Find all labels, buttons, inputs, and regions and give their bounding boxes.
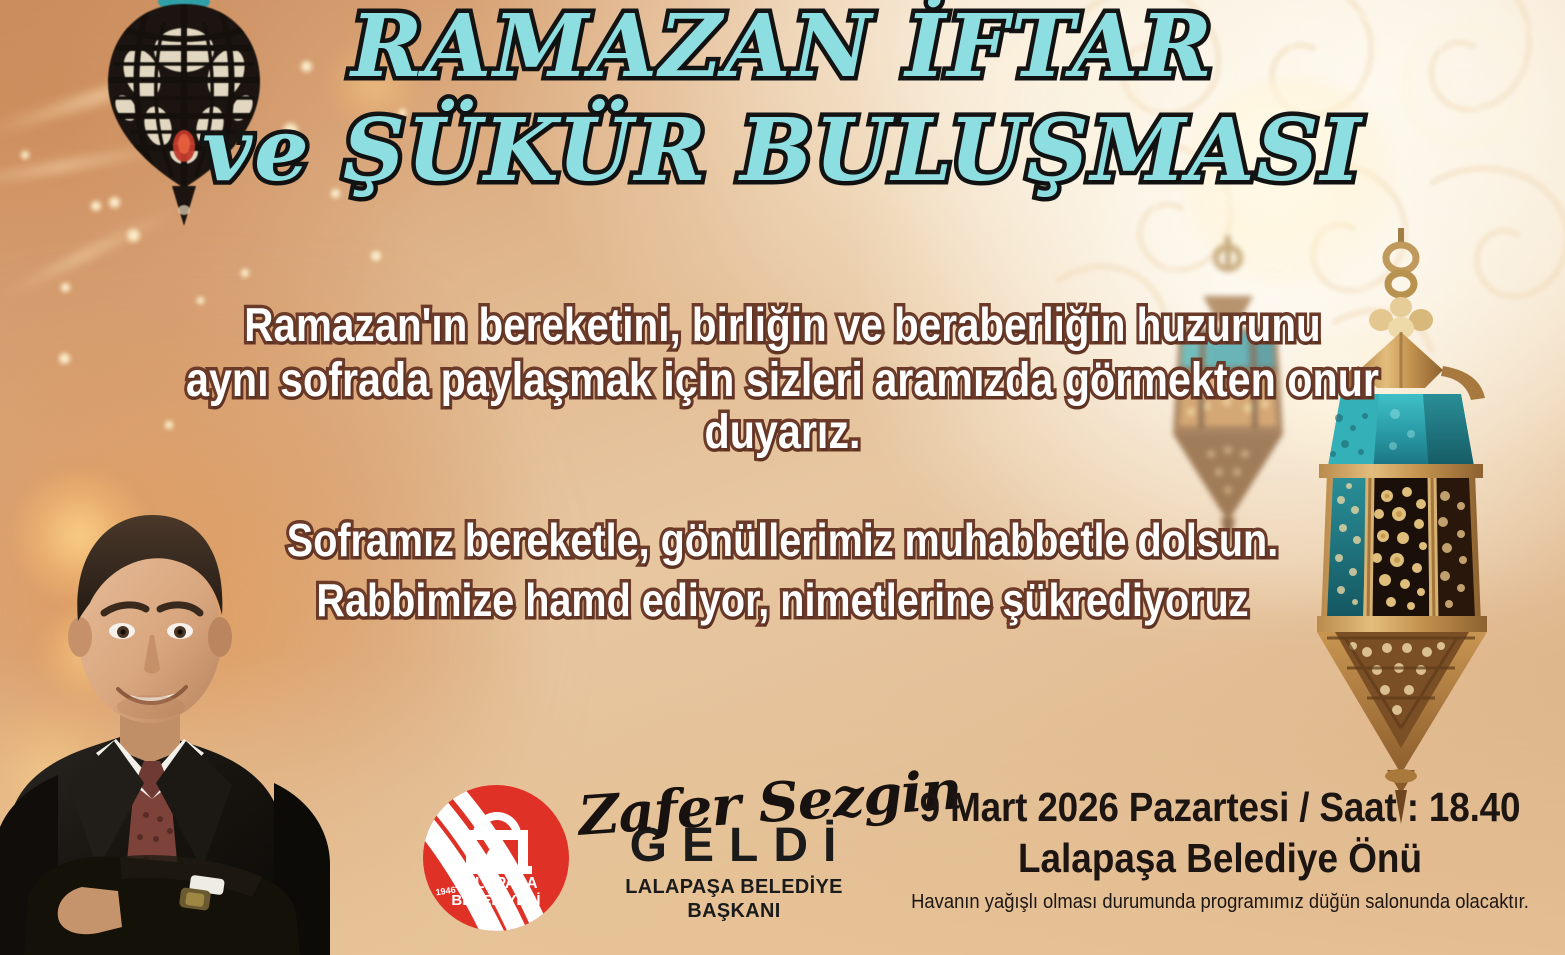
logo-municipality-line2: BELEDİYESİ (451, 892, 540, 909)
poster-headline: RAMAZAN İFTAR ve ŞÜKÜR BULUŞMASI (0, 4, 1565, 194)
headline-prefix: ve (202, 100, 343, 201)
headline-line-1: RAMAZAN İFTAR (0, 4, 1565, 90)
paragraph-2-line-2: Rabbimize hamd ediyor, nimetlerine şükre… (110, 576, 1456, 626)
paragraph-2-line-1: Soframız bereketle, gönüllerimiz muhabbe… (110, 516, 1456, 566)
event-date-time: 9 Mart 2026 Pazartesi / Saat : 18.40 (914, 786, 1526, 829)
paragraph-1-line-1: Ramazan'ın bereketini, birliğin ve berab… (110, 300, 1456, 351)
headline-line-2: ve ŞÜKÜR BULUŞMASI (0, 108, 1565, 194)
paragraph-1: Ramazan'ın bereketini, birliğin ve berab… (0, 300, 1565, 458)
mayor-signature-block: Zafer Sezgin GELDİ LALAPAŞA BELEDİYE BAŞ… (584, 778, 884, 923)
poster-body: Ramazan'ın bereketini, birliğin ve berab… (0, 300, 1565, 626)
paragraph-1-line-2: aynı sofrada paylaşmak için sizleri aram… (110, 355, 1456, 459)
event-info-block: 9 Mart 2026 Pazartesi / Saat : 18.40 Lal… (880, 786, 1560, 913)
logo-municipality-line1: LALAPAŞA (454, 875, 537, 892)
event-location: Lalapaşa Belediye Önü (914, 837, 1526, 880)
paragraph-2: Soframız bereketle, gönüllerimiz muhabbe… (0, 516, 1565, 625)
municipality-logo: LALAPAŞA BELEDİYESİ 1946 (418, 782, 574, 934)
event-note: Havanın yağışlı olması durumunda program… (907, 891, 1533, 913)
signature-role: LALAPAŞA BELEDİYE BAŞKANI (589, 875, 880, 923)
headline-main: ŞÜKÜR BULUŞMASI (343, 100, 1363, 201)
poster-canvas: RAMAZAN İFTAR ve ŞÜKÜR BULUŞMASI Ramazan… (0, 0, 1565, 955)
